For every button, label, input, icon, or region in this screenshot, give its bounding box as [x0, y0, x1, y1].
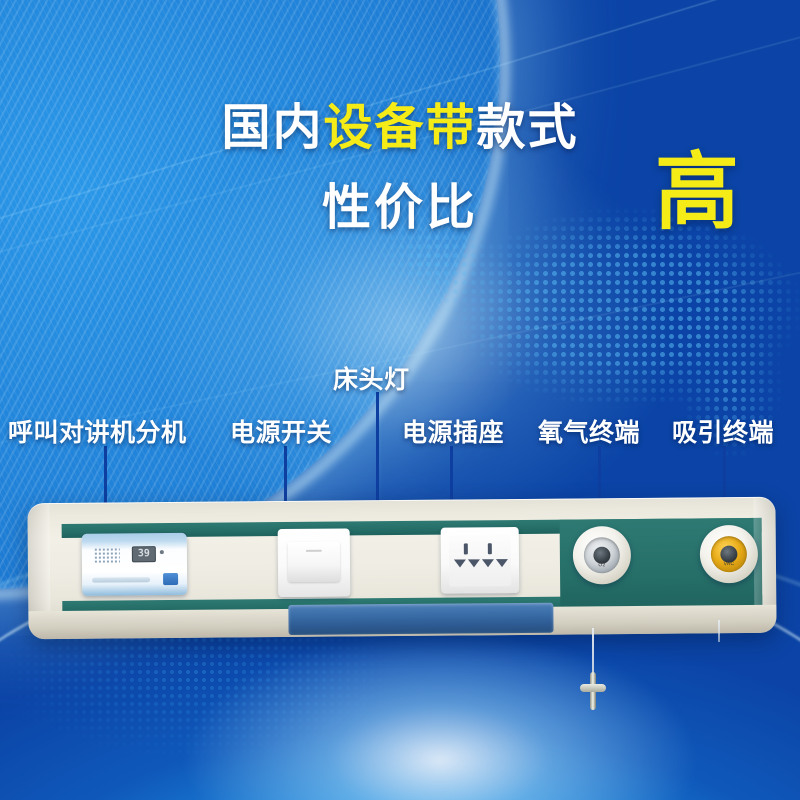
suction-terminal-tag: VAC: [724, 561, 735, 567]
callout-label-intercom: 呼叫对讲机分机: [8, 413, 187, 449]
medical-bedhead-panel: 39 O2: [27, 497, 776, 640]
pull-cord-suction[interactable]: [718, 620, 720, 642]
socket-faceplate: [449, 534, 511, 587]
callout-label-suction: 吸引终端: [672, 413, 774, 449]
intercom-display: 39: [132, 546, 156, 562]
oxygen-terminal[interactable]: O2: [573, 526, 632, 585]
callout-label-oxygen: 氧气终端: [538, 413, 640, 449]
callout-label-power-socket: 电源插座: [402, 413, 504, 449]
socket-pin-angled-4: [496, 559, 508, 567]
headline-part-2: 款式: [477, 101, 579, 155]
pull-cord-handle[interactable]: [580, 672, 606, 710]
socket-pin-angled-1: [454, 559, 466, 567]
power-switch[interactable]: [278, 528, 351, 597]
socket-pin-live-a: [464, 543, 468, 554]
headline-part-1: 国内: [221, 101, 323, 155]
product-banner: 国内设备带款式 性价比 高 呼叫对讲机分机 电源开关 床头灯 电源插座 氧气终端…: [0, 0, 800, 800]
cord-handle-crosspiece: [580, 684, 606, 692]
oxygen-terminal-ring: O2: [584, 537, 620, 573]
socket-pin-live-b: [488, 543, 492, 554]
suction-terminal[interactable]: VAC: [700, 525, 759, 584]
callout-label-power-switch: 电源开关: [230, 413, 332, 449]
bedside-lamp-diffuser[interactable]: [288, 603, 553, 635]
intercom-call-button[interactable]: [163, 573, 178, 585]
headline-big-char: 高: [655, 150, 739, 234]
callout-label-bedside-lamp: 床头灯: [333, 360, 410, 396]
bottom-glow: [180, 630, 700, 800]
switch-rocker[interactable]: [288, 542, 340, 582]
speaker-grill-icon: [94, 547, 120, 562]
switch-marking: [306, 550, 322, 552]
intercom-vent-slot: [92, 577, 150, 583]
nurse-call-intercom[interactable]: 39: [82, 533, 188, 596]
headline-highlight: 设备带: [323, 101, 476, 155]
suction-terminal-ring: VAC: [711, 536, 747, 572]
power-socket[interactable]: [441, 527, 520, 594]
socket-pin-angled-2: [468, 559, 480, 567]
oxygen-terminal-tag: O2: [598, 562, 605, 568]
status-led-icon: [160, 550, 164, 554]
socket-pin-angled-3: [482, 559, 494, 567]
